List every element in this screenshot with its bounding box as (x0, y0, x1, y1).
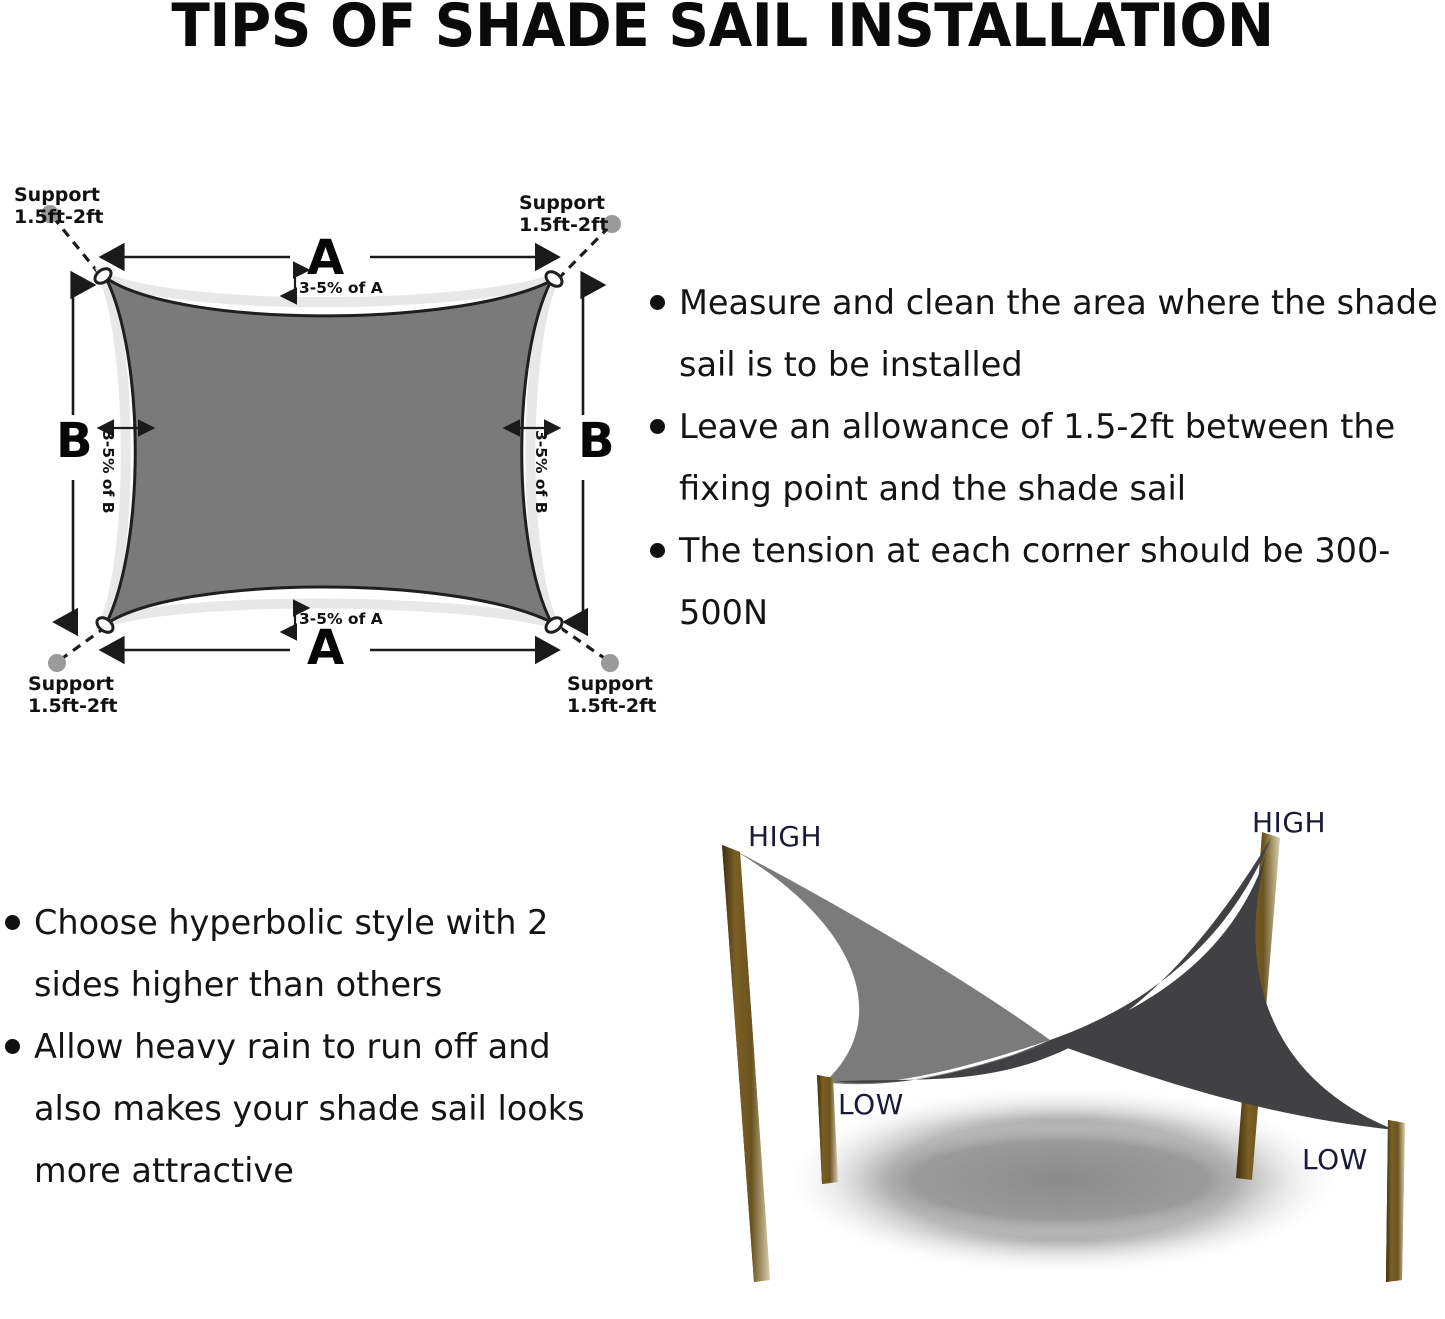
support-label-top-left: Support 1.5ft-2ft (14, 184, 103, 228)
label-high-right: HIGH (1252, 806, 1326, 839)
list-item: Allow heavy rain to run off and also mak… (5, 1016, 615, 1202)
support-label-line2: 1.5ft-2ft (567, 695, 656, 717)
list-item-label: Leave an allowance of 1.5-2ft between th… (679, 396, 1445, 520)
label-low-right: LOW (1302, 1143, 1368, 1176)
support-line-bottom-right (558, 626, 607, 660)
support-dot-bottom-left (48, 654, 66, 672)
support-label-bottom-right: Support 1.5ft-2ft (567, 673, 656, 717)
curve-annotation-bottom: 3-5% of A (299, 610, 383, 628)
page-title: TIPS OF SHADE SAIL INSTALLATION (43, 0, 1401, 58)
tips-list-bottom: Choose hyperbolic style with 2 sides hig… (5, 892, 615, 1202)
dimension-letter-B-right: B (578, 413, 615, 469)
support-label-line2: 1.5ft-2ft (14, 206, 103, 228)
list-item-label: Allow heavy rain to run off and also mak… (34, 1016, 615, 1202)
list-item: Choose hyperbolic style with 2 sides hig… (5, 892, 615, 1016)
curve-annotation-left: 3-5% of B (99, 430, 117, 514)
support-label-line1: Support (28, 673, 117, 695)
bullet-icon (5, 1039, 20, 1054)
support-label-line2: 1.5ft-2ft (28, 695, 117, 717)
list-item-label: Measure and clean the area where the sha… (679, 272, 1445, 396)
list-item-label: The tension at each corner should be 300… (679, 520, 1445, 644)
support-line-bottom-left (60, 626, 107, 660)
list-item: The tension at each corner should be 300… (650, 520, 1445, 644)
label-low-left: LOW (838, 1088, 904, 1121)
dimension-letter-A-bottom: A (307, 620, 344, 676)
dimension-letter-A-top: A (307, 230, 344, 286)
sail-panel-dark-lower (1050, 838, 1395, 1130)
ground-shadow-rect (830, 1120, 1290, 1240)
support-label-line1: Support (567, 673, 656, 695)
bullet-icon (5, 915, 20, 930)
support-label-top-right: Support 1.5ft-2ft (519, 192, 608, 236)
tips-list-top: Measure and clean the area where the sha… (650, 272, 1445, 644)
support-label-line2: 1.5ft-2ft (519, 214, 608, 236)
post-high-left-front (722, 845, 770, 1282)
bullet-icon (650, 295, 665, 310)
post-low-right-front (1386, 1120, 1405, 1282)
support-label-bottom-left: Support 1.5ft-2ft (28, 673, 117, 717)
list-item: Measure and clean the area where the sha… (650, 272, 1445, 396)
support-label-line1: Support (519, 192, 608, 214)
sail-body (106, 278, 551, 624)
bullet-icon (650, 419, 665, 434)
support-dot-bottom-right (601, 654, 619, 672)
bullet-icon (650, 543, 665, 558)
curve-annotation-right: 3-5% of B (532, 430, 550, 514)
dimension-letter-B-left: B (56, 413, 93, 469)
label-high-left: HIGH (748, 820, 822, 853)
list-item-label: Choose hyperbolic style with 2 sides hig… (34, 892, 615, 1016)
list-item: Leave an allowance of 1.5-2ft between th… (650, 396, 1445, 520)
sail-panel-light (734, 850, 1050, 1084)
support-label-line1: Support (14, 184, 103, 206)
hyperbolic-sail-svg (630, 790, 1445, 1319)
hyperbolic-sail-illustration (630, 790, 1445, 1319)
curve-annotation-top: 3-5% of A (299, 279, 383, 297)
